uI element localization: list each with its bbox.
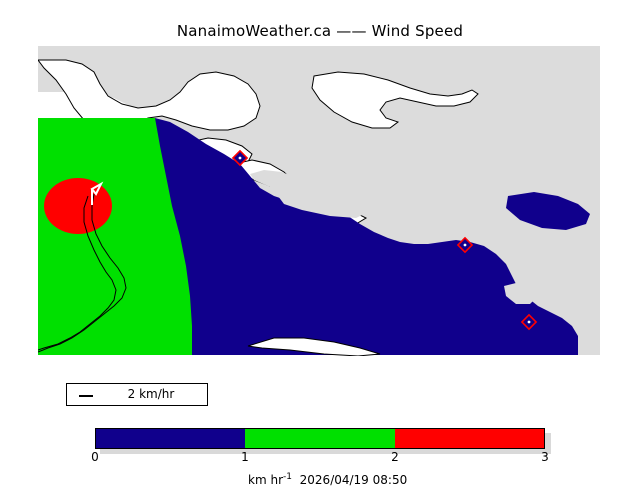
colorbar-segments <box>95 428 545 449</box>
colorbar: 0 1 2 3 <box>95 428 551 454</box>
colorbar-units-exponent: -1 <box>283 472 292 482</box>
colorbar-segment-mid <box>245 429 394 448</box>
vector-legend-label: 2 km/hr <box>67 387 209 401</box>
overlay-region-high <box>44 178 112 234</box>
vector-scale-legend: 2 km/hr <box>66 383 208 406</box>
colorbar-segment-high <box>395 429 544 448</box>
weather-map-page: NanaimoWeather.ca —— Wind Speed <box>0 0 640 480</box>
colorbar-units: km hr <box>248 473 283 487</box>
map-graphic <box>38 46 600 356</box>
colorbar-timestamp: 2026/04/19 08:50 <box>300 473 408 487</box>
map-canvas[interactable] <box>38 46 600 356</box>
page-title: NanaimoWeather.ca —— Wind Speed <box>0 22 640 40</box>
colorbar-segment-low <box>96 429 245 448</box>
